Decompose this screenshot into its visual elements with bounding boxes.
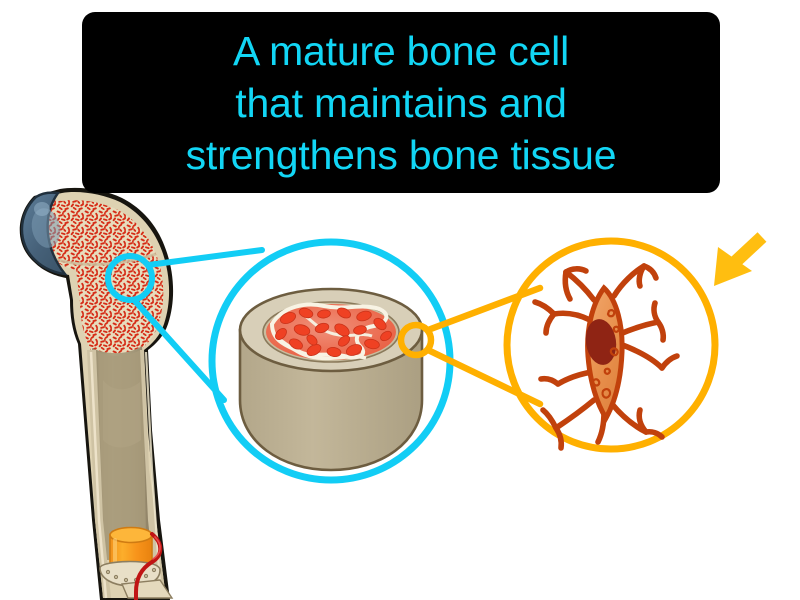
osteocyte-cell xyxy=(535,266,677,448)
illustration-stage: A mature bone cell that maintains and st… xyxy=(0,0,800,600)
cartilage-highlight-2 xyxy=(34,202,50,216)
definition-line-3: strengthens bone tissue xyxy=(186,129,617,181)
bone-sample-cylinder xyxy=(240,289,422,470)
pointer-arrow xyxy=(714,237,762,286)
definition-line-2: that maintains and xyxy=(235,77,566,129)
definition-line-1: A mature bone cell xyxy=(233,25,569,77)
definition-banner: A mature bone cell that maintains and st… xyxy=(82,12,720,193)
arrow-shaft xyxy=(733,237,762,264)
cavity-highlight xyxy=(103,380,141,448)
femur-bone-cutaway xyxy=(20,188,173,600)
